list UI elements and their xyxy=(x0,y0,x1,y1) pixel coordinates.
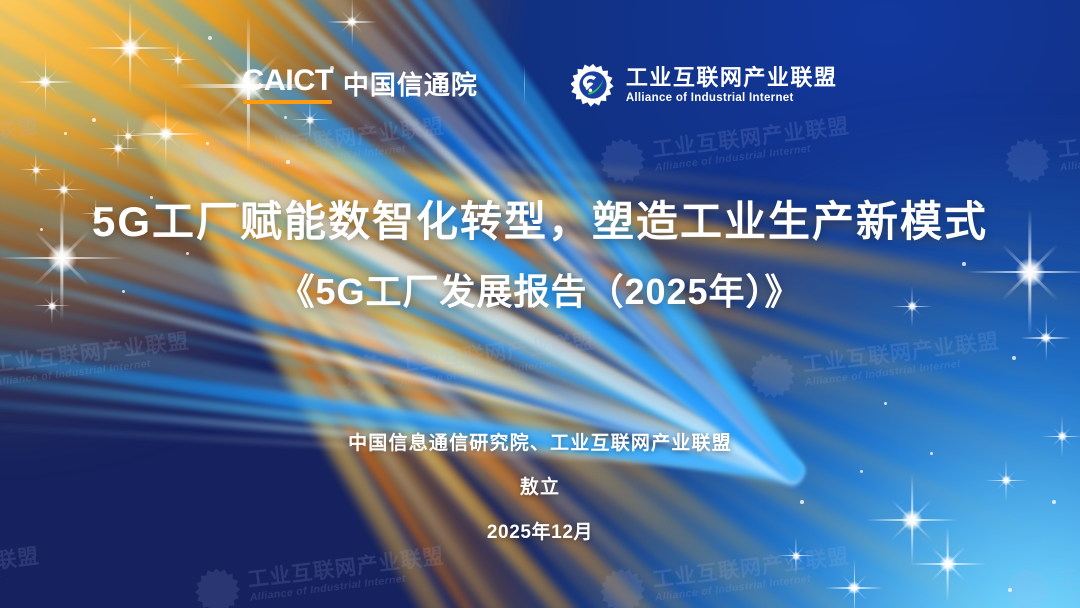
sparkle-icon xyxy=(1020,312,1073,365)
watermark-tile: 工业互联网产业联盟Alliance of Industrial Internet xyxy=(343,325,598,401)
gear-wifi-icon xyxy=(571,63,615,107)
watermark-tile: 工业互联网产业联盟Alliance of Industrial Internet xyxy=(193,540,448,608)
watermark-tile: 工业互联网产业联盟Alliance of Industrial Internet xyxy=(748,325,1003,401)
sparkle-icon xyxy=(776,536,816,576)
page-subtitle: 《5G工厂发展报告（2025年）》 xyxy=(0,269,1080,315)
alliance-chinese-name: 工业互联网产业联盟 xyxy=(626,66,838,90)
caict-underline-rule xyxy=(243,100,332,104)
alliance-logo: 工业互联网产业联盟 Alliance of Industrial Interne… xyxy=(571,63,838,107)
page-title: 5G工厂赋能数智化转型，塑造工业生产新模式 xyxy=(0,196,1080,249)
watermark-tile: 工业互联网产业联盟Alliance of Industrial Internet xyxy=(0,325,193,401)
sparkle-icon xyxy=(823,557,885,608)
sparkle-dot xyxy=(284,116,287,119)
credits-block: 中国信息通信研究院、工业互联网产业联盟 敖立 2025年12月 xyxy=(0,434,1080,542)
sparkle-dot xyxy=(208,36,212,40)
credit-organizations: 中国信息通信研究院、工业互联网产业联盟 xyxy=(0,434,1080,453)
watermark-tile: 工业互联网产业联盟Alliance of Industrial Internet xyxy=(193,110,448,186)
caict-logo: CAICT 中国信通院 xyxy=(243,66,478,104)
alliance-logo-text: 工业互联网产业联盟 Alliance of Industrial Interne… xyxy=(626,66,838,105)
credit-presenter: 敖立 xyxy=(0,478,1080,497)
title-slide: 工业互联网产业联盟Alliance of Industrial Internet… xyxy=(0,0,1080,608)
sparkle-dot xyxy=(1012,356,1016,360)
sparkle-icon xyxy=(326,0,379,48)
watermark-tile: 工业互联网产业联盟Alliance of Industrial Internet xyxy=(1003,110,1080,186)
logo-divider xyxy=(524,64,525,106)
sparkle-dot xyxy=(884,402,887,405)
title-block: 5G工厂赋能数智化转型，塑造工业生产新模式 《5G工厂发展报告（2025年）》 xyxy=(0,196,1080,315)
sparkle-icon xyxy=(96,126,140,170)
sparkle-dot xyxy=(286,160,290,164)
sparkle-dot xyxy=(92,118,96,122)
caict-chinese-name: 中国信通院 xyxy=(343,72,478,98)
watermark-tile: 工业互联网产业联盟Alliance of Industrial Internet xyxy=(0,540,43,608)
watermark-tile: 工业互联网产业联盟Alliance of Industrial Internet xyxy=(1003,540,1080,608)
sparkle-dot xyxy=(64,132,67,135)
logo-bar: CAICT 中国信通院 xyxy=(0,63,1080,107)
caict-wordmark-icon: CAICT xyxy=(243,66,332,104)
watermark-tile: 工业互联网产业联盟Alliance of Industrial Internet xyxy=(598,110,853,186)
alliance-english-name: Alliance of Industrial Internet xyxy=(626,92,838,105)
sparkle-icon xyxy=(18,152,53,187)
caict-wordmark-text: CAICT xyxy=(242,66,333,96)
sparkle-icon xyxy=(110,118,145,153)
sparkle-dot xyxy=(206,142,209,145)
watermark-tile: 工业互联网产业联盟Alliance of Industrial Internet xyxy=(0,110,43,186)
sparkle-icon xyxy=(131,99,201,169)
watermark-tile: 工业互联网产业联盟Alliance of Industrial Internet xyxy=(598,540,853,608)
credit-date: 2025年12月 xyxy=(0,523,1080,542)
sparkle-dot xyxy=(1008,588,1012,592)
